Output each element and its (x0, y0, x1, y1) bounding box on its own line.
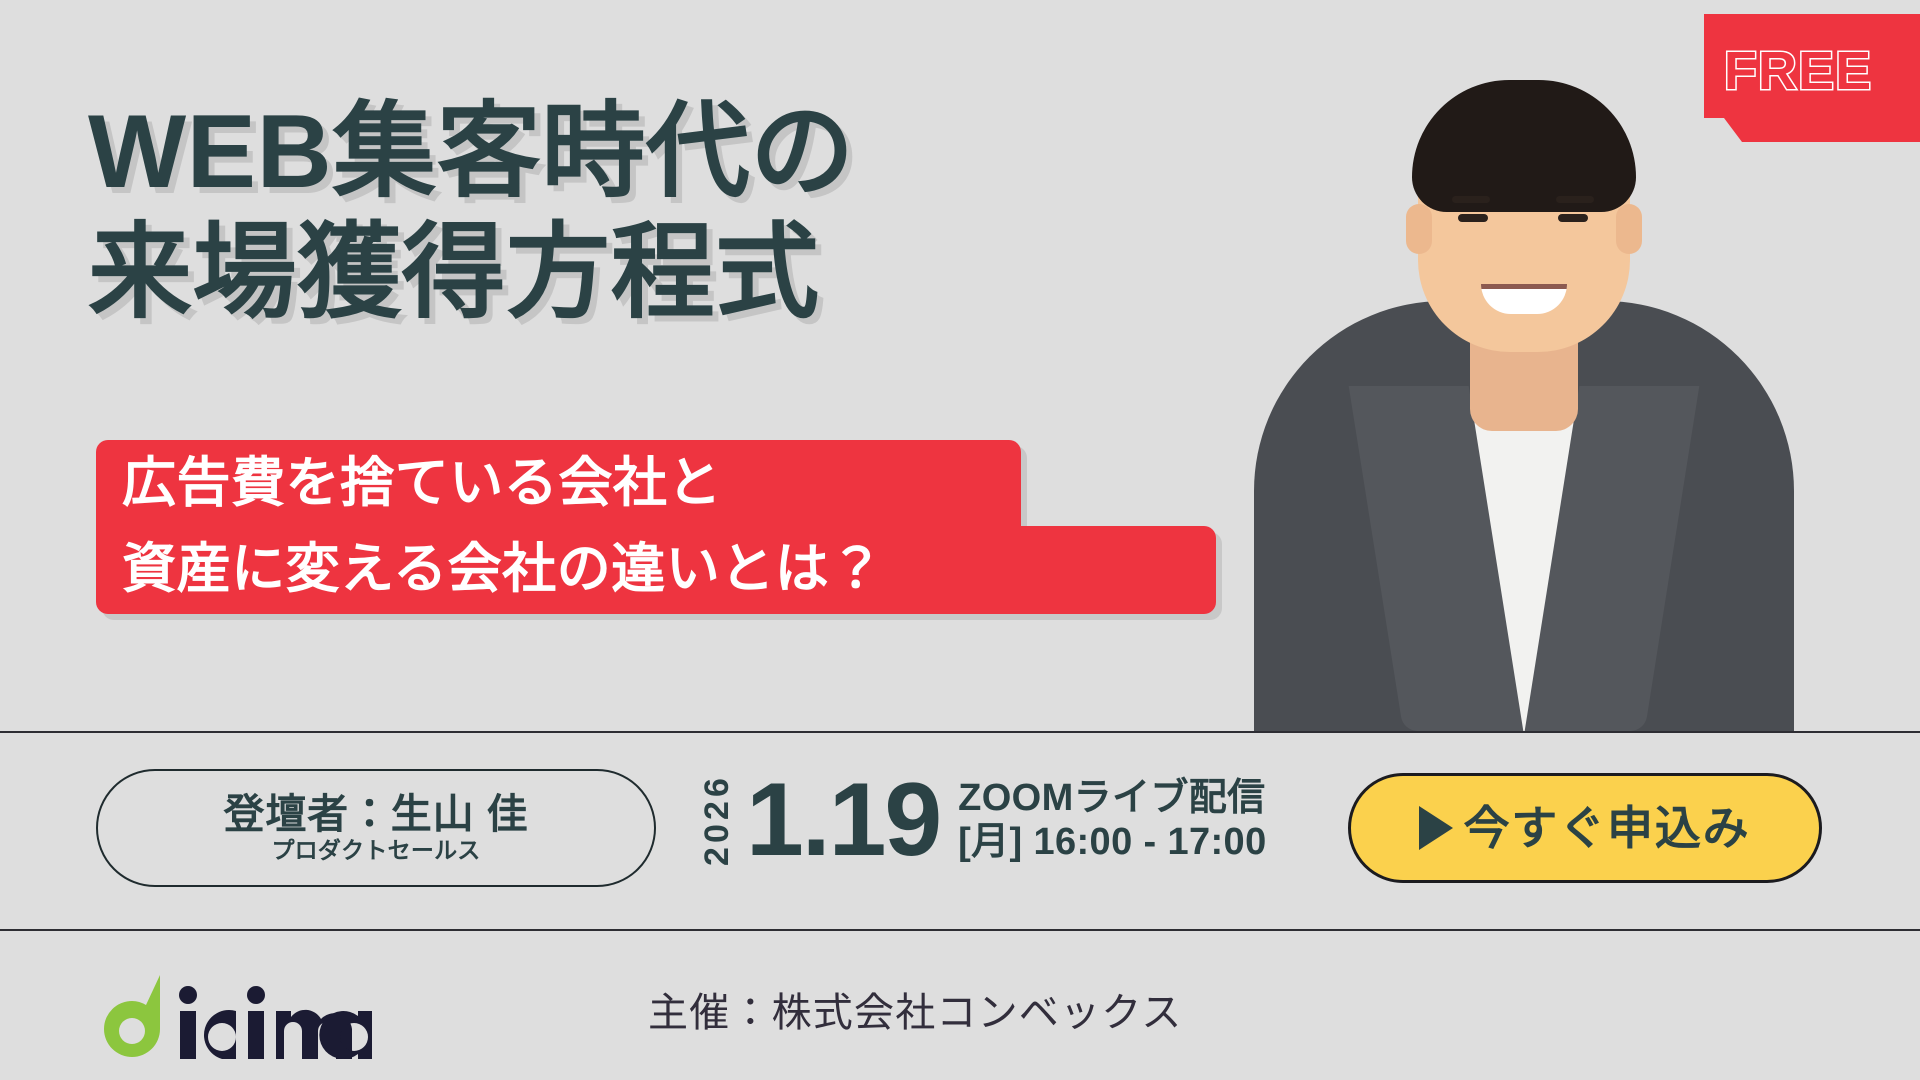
speaker-name: 登壇者：生山 佳 (224, 794, 529, 835)
event-date: 1.19 (746, 768, 940, 872)
hero-section: WEB集客時代の 来場獲得方程式 広告費を捨ている会社と 資産に変える会社の違い… (0, 0, 1920, 731)
speaker-role: プロダクトセールス (271, 839, 480, 862)
webinar-banner: WEB集客時代の 来場獲得方程式 広告費を捨ている会社と 資産に変える会社の違い… (0, 0, 1920, 1080)
event-time: [月] 16:00 - 17:00 (958, 823, 1266, 861)
presenter-ear-right (1616, 204, 1642, 254)
subtitle-line-1: 広告費を捨ている会社と (96, 440, 1021, 528)
digima-logo (96, 973, 376, 1059)
play-triangle-icon (1419, 806, 1453, 850)
apply-now-label: 今すぐ申込み (1463, 805, 1750, 851)
presenter-brow-left (1452, 196, 1490, 203)
presenter-hair (1412, 80, 1636, 212)
digima-logo-mark (96, 973, 376, 1059)
footer: 主催：株式会社コンベックス (0, 931, 1920, 1080)
info-bar: 登壇者：生山 佳 プロダクトセールス 2026 1.19 ZOOMライブ配信 [… (0, 731, 1920, 929)
event-year: 2026 (700, 757, 734, 883)
page-title: WEB集客時代の 来場獲得方程式 (88, 92, 855, 333)
presenter-ear-left (1406, 204, 1432, 254)
zoom-details: ZOOMライブ配信 [月] 16:00 - 17:00 (958, 779, 1266, 861)
free-badge: FREE (1684, 14, 1920, 142)
subtitle-line-2: 資産に変える会社の違いとは？ (96, 526, 1216, 614)
zoom-live-label: ZOOMライブ配信 (958, 779, 1266, 817)
speaker-pill: 登壇者：生山 佳 プロダクトセールス (96, 769, 656, 887)
presenter-brow-right (1556, 196, 1594, 203)
organizer-text: 主催：株式会社コンベックス (648, 993, 1182, 1033)
presenter-eye-left (1458, 214, 1488, 222)
presenter-eye-right (1558, 214, 1588, 222)
date-block: 2026 1.19 ZOOMライブ配信 [月] 16:00 - 17:00 (700, 757, 1267, 883)
subtitle-block: 広告費を捨ている会社と 資産に変える会社の違いとは？ (96, 440, 1216, 614)
apply-now-button[interactable]: 今すぐ申込み (1348, 773, 1822, 883)
free-badge-label: FREE (1684, 40, 1912, 102)
